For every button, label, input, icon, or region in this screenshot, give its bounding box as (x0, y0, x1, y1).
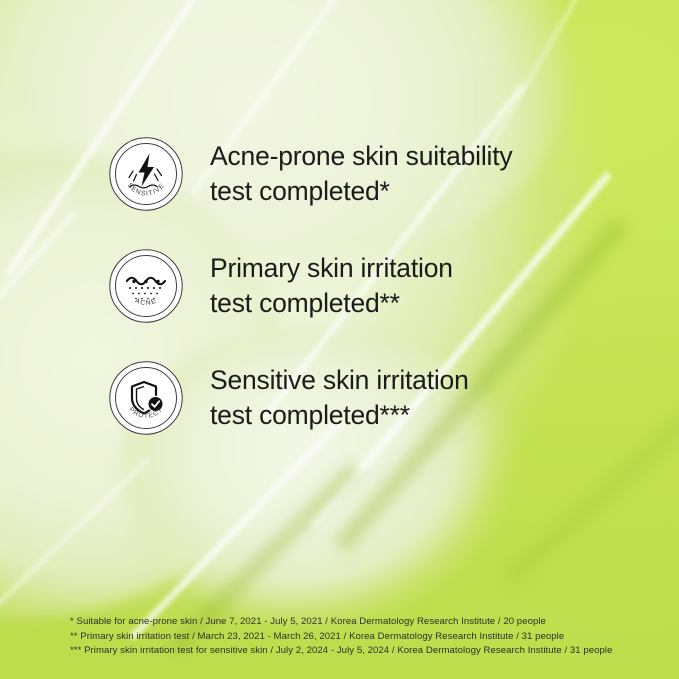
footnote-line-2: ** Primary skin irritation test / March … (70, 630, 613, 645)
claim-row: SENSITIVE Acne-prone skin suitability te… (108, 118, 648, 230)
acne-skin-texture-icon: ACNE (108, 248, 184, 324)
claim-text: Acne-prone skin suitability test complet… (210, 139, 512, 209)
footnotes: * Suitable for acne-prone skin / June 7,… (70, 615, 613, 659)
footnote-line-1: * Suitable for acne-prone skin / June 7,… (70, 615, 613, 630)
promo-banner: SENSITIVE Acne-prone skin suitability te… (0, 0, 679, 679)
sensitive-lightning-icon: SENSITIVE (108, 136, 184, 212)
claim-text: Primary skin irritation test completed** (210, 251, 453, 321)
footnote-line-3: *** Primary skin irritation test for sen… (70, 644, 613, 659)
claim-text: Sensitive skin irritation test completed… (210, 363, 469, 433)
claim-row: ACNE Primary skin irritation test comple… (108, 230, 648, 342)
claims-list: SENSITIVE Acne-prone skin suitability te… (108, 118, 648, 454)
protect-shield-check-icon: PROTECT (108, 360, 184, 436)
claim-row: PROTECT Sensitive skin irritation test c… (108, 342, 648, 454)
